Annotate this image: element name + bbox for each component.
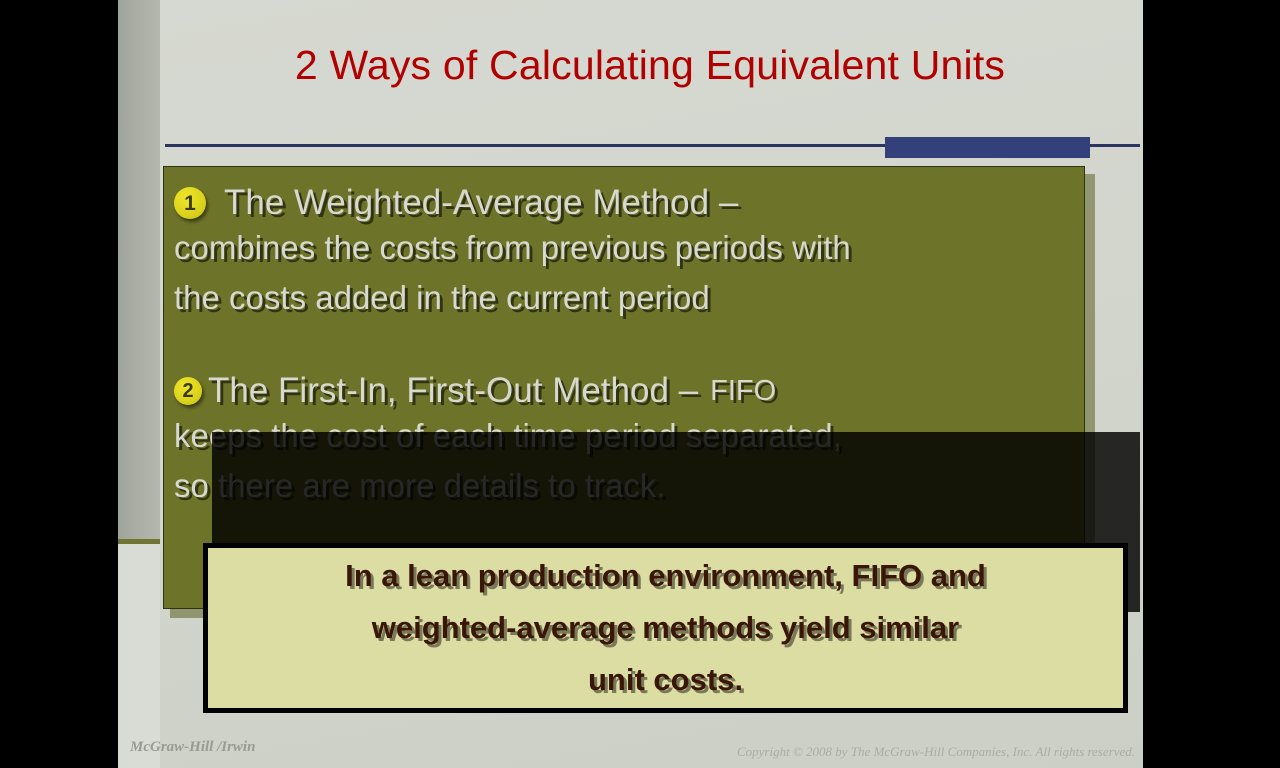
callout-line-3: unit costs. — [345, 654, 986, 706]
callout-line-1: In a lean production environment, FIFO a… — [345, 550, 986, 602]
slide-root: 2 Ways of Calculating Equivalent Units 1… — [0, 0, 1280, 768]
bullet-1-heading: The Weighted-Average Method – — [224, 183, 738, 223]
title-accent-block — [885, 137, 1090, 158]
bullet-1-body-line-2: the costs added in the current period — [164, 273, 1084, 323]
bullet-2-heading: The First-In, First-Out Method – — [208, 371, 698, 411]
callout-text: In a lean production environment, FIFO a… — [345, 550, 986, 706]
footer-copyright: Copyright © 2008 by The McGraw-Hill Comp… — [737, 744, 1135, 760]
callout-line-2: weighted-average methods yield similar — [345, 602, 986, 654]
bullet-1-heading-row: 1 The Weighted-Average Method – — [164, 183, 1084, 223]
footer-brand: McGraw-Hill /Irwin — [130, 739, 255, 756]
bullet-1-body-line-1: combines the costs from previous periods… — [164, 223, 1084, 273]
bullet-item-1: 1 The Weighted-Average Method – combines… — [164, 183, 1084, 323]
bullet-2-heading-acronym: FIFO — [710, 375, 776, 408]
bullet-number-badge-1: 1 — [174, 187, 206, 219]
left-band-lower — [118, 544, 160, 768]
page-title: 2 Ways of Calculating Equivalent Units — [170, 42, 1130, 89]
left-decorative-band — [118, 0, 160, 543]
bullet-number-badge-2: 2 — [174, 377, 202, 405]
slide-canvas: 2 Ways of Calculating Equivalent Units 1… — [118, 0, 1143, 768]
bullet-2-heading-row: 2 The First-In, First-Out Method – FIFO — [164, 371, 1084, 411]
callout-box: In a lean production environment, FIFO a… — [203, 543, 1128, 713]
